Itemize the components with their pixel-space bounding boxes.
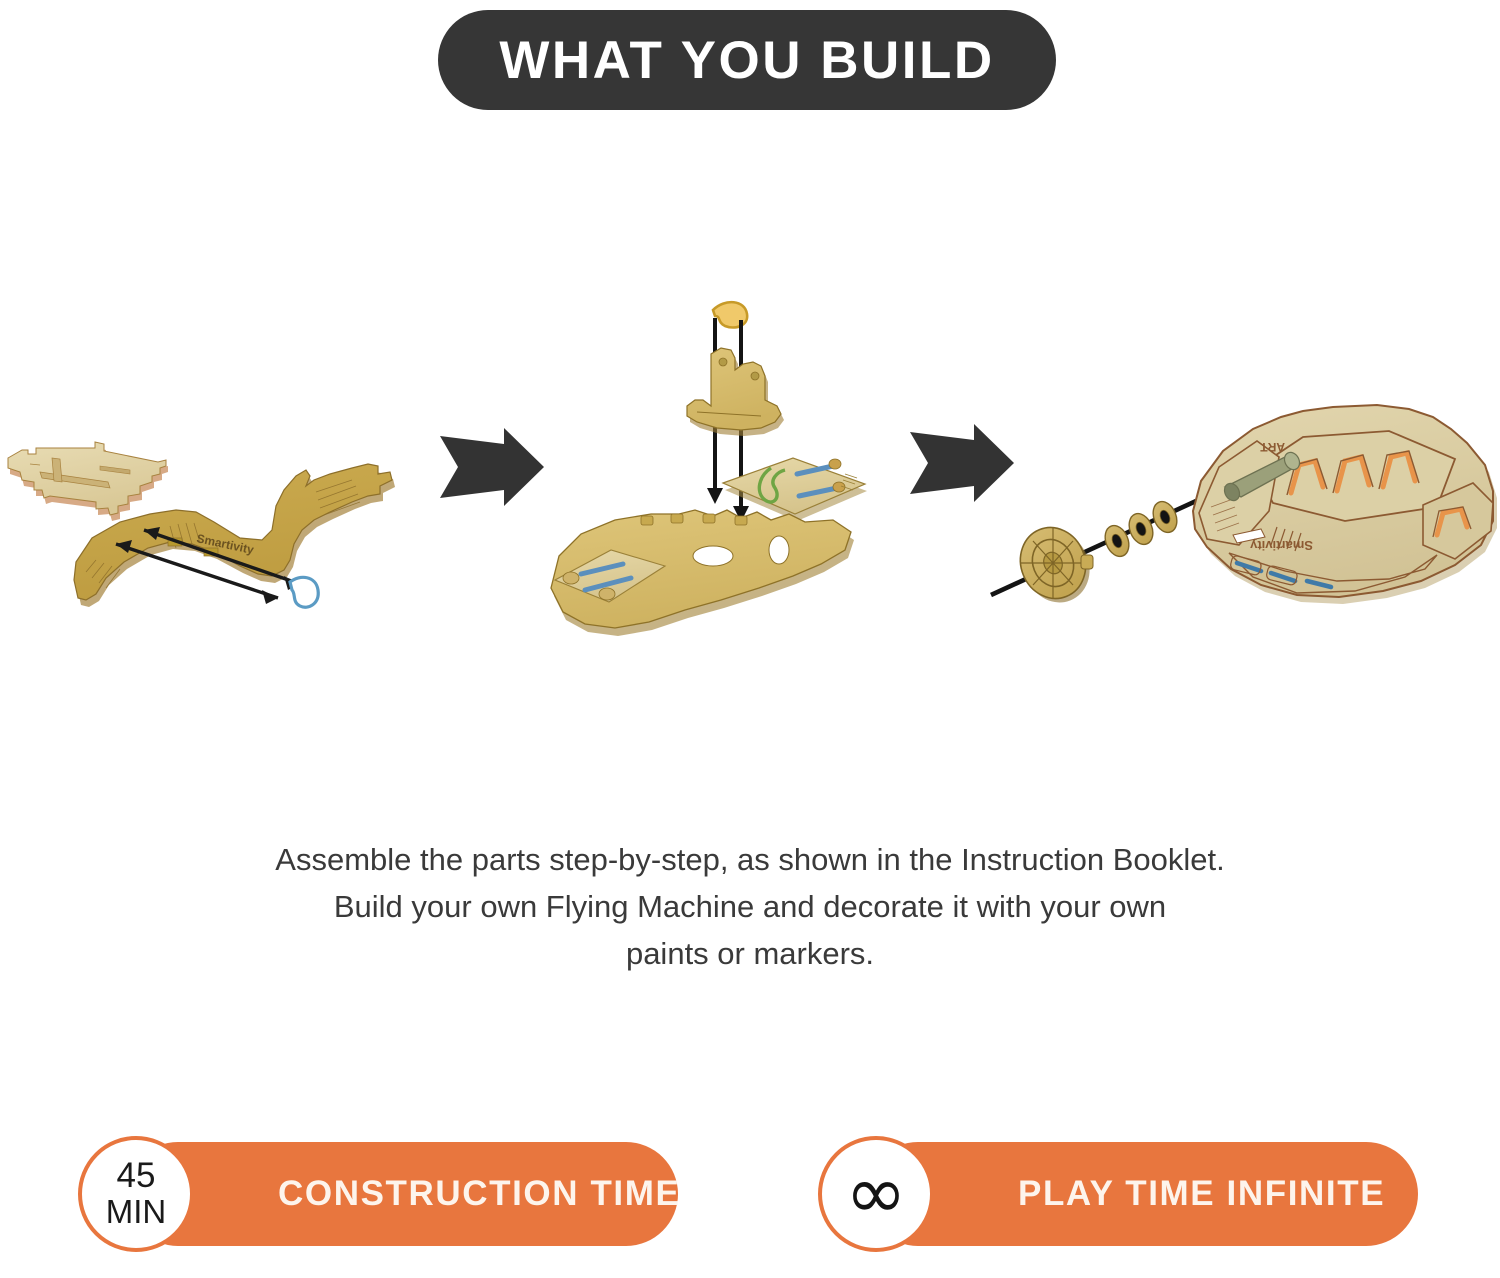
construction-time-value: 45 [117,1158,156,1195]
build-steps-strip: Smartivity [0,270,1500,670]
construction-time-bar: CONSTRUCTION TIME [126,1142,678,1246]
art-engraving-step3: ART [1260,440,1285,454]
construction-time-badge: CONSTRUCTION TIME 45 MIN [78,1142,678,1246]
step-2-seat-and-deck [545,288,875,653]
play-time-bar: PLAY TIME INFINITE [866,1142,1418,1246]
section-header-pill: WHAT YOU BUILD [438,10,1056,110]
what-you-build-infographic: WHAT YOU BUILD [0,0,1500,1277]
brand-engraving-step3: Smartivity [1249,538,1313,553]
description-text: Assemble the parts step-by-step, as show… [90,836,1410,977]
construction-time-label: CONSTRUCTION TIME [278,1174,680,1214]
infinity-icon: ∞ [845,1168,907,1220]
washer [1125,510,1157,548]
step-separator-arrow-1 [432,422,552,512]
step-1-frame-parts: Smartivity [0,410,420,640]
description-line-2: Build your own Flying Machine and decora… [90,883,1410,930]
construction-time-circle: 45 MIN [78,1136,194,1252]
construction-time-unit: MIN [106,1195,167,1230]
base-plate-part [8,442,168,521]
finished-body-part: Smartivity ART [1193,405,1497,604]
seat-bracket-part [687,348,784,436]
page-title: WHAT YOU BUILD [499,34,994,87]
washer-stack [1101,498,1181,560]
blue-rubber-band [290,577,318,607]
propeller-hub [1010,518,1100,613]
washer [1149,498,1181,536]
info-badges: CONSTRUCTION TIME 45 MIN PLAY TIME INFIN… [0,1128,1500,1278]
description-line-1: Assemble the parts step-by-step, as show… [90,836,1410,883]
washer [1101,522,1133,560]
description-line-3: paints or markers. [90,930,1410,977]
play-time-label: PLAY TIME INFINITE [1018,1174,1385,1214]
chassis-part [551,510,854,636]
step-3-propeller-and-body: Smartivity ART [985,395,1500,625]
play-time-circle: ∞ [818,1136,934,1252]
play-time-badge: PLAY TIME INFINITE ∞ [818,1142,1418,1246]
